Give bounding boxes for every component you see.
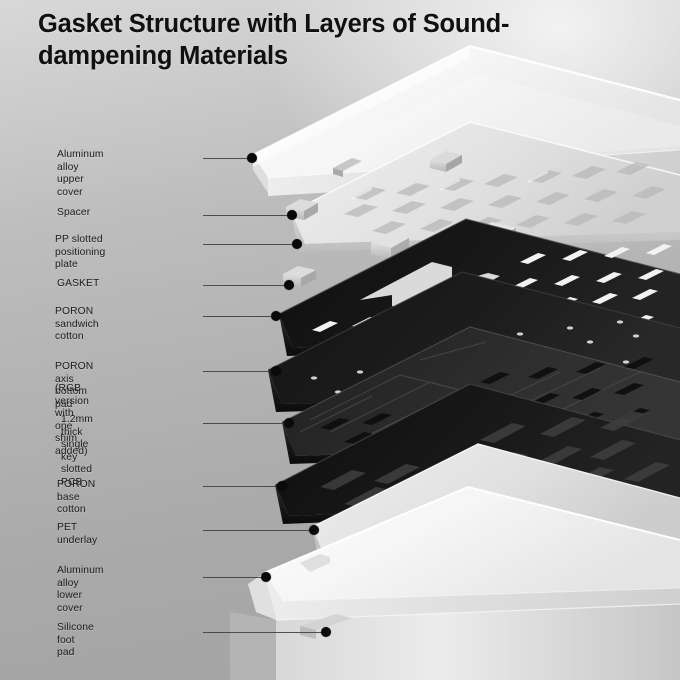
callout-label-gasket: GASKET xyxy=(57,278,99,291)
leader-line-poron-sandwich-cotton xyxy=(203,316,275,317)
leader-line-poron-base-cotton xyxy=(203,486,281,487)
callout-label-aluminum-alloy-lower-cover: Aluminum alloy lower cover xyxy=(57,565,104,615)
leader-dot-pp-slotted-positioning-plate xyxy=(292,239,302,249)
leader-line-gasket xyxy=(203,285,288,286)
leader-line-spacer xyxy=(203,215,291,216)
leader-line-pet-underlay xyxy=(203,530,313,531)
leader-dot-poron-axis-bottom-pad xyxy=(271,366,281,376)
callout-label-pp-slotted-positioning-plate: PP slotted positioning plate xyxy=(55,234,105,272)
page-title: Gasket Structure with Layers of Sound-da… xyxy=(38,8,638,72)
leader-dot-silicone-foot-pad xyxy=(321,627,331,637)
leader-dot-aluminum-alloy-upper-cover xyxy=(247,153,257,163)
exploded-diagram-page: Gasket Structure with Layers of Sound-da… xyxy=(0,0,680,680)
leader-line-pp-slotted-positioning-plate xyxy=(203,244,296,245)
leader-line-single-key-slotted-pcb xyxy=(203,423,288,424)
leader-dot-single-key-slotted-pcb xyxy=(284,418,294,428)
callout-label-spacer: Spacer xyxy=(57,207,90,220)
callout-label-poron-base-cotton: PORON base cotton xyxy=(57,479,95,517)
callout-label-single-key-slotted-pcb: 1.2mm thick single key slotted PCB xyxy=(61,414,93,489)
leader-line-poron-axis-bottom-pad xyxy=(203,371,275,372)
leader-dot-spacer xyxy=(287,210,297,220)
leader-dot-poron-base-cotton xyxy=(277,481,287,491)
callout-label-aluminum-alloy-upper-cover: Aluminum alloy upper cover xyxy=(57,149,104,199)
leader-dot-gasket xyxy=(284,280,294,290)
leader-dot-pet-underlay xyxy=(309,525,319,535)
callout-label-poron-sandwich-cotton: PORON sandwich cotton xyxy=(55,306,99,344)
callout-label-pet-underlay: PET underlay xyxy=(57,522,97,547)
callout-label-silicone-foot-pad: Silicone foot pad xyxy=(57,622,94,660)
leader-dot-poron-sandwich-cotton xyxy=(271,311,281,321)
leader-line-aluminum-alloy-upper-cover xyxy=(203,158,251,159)
leader-line-silicone-foot-pad xyxy=(203,632,325,633)
leader-dot-aluminum-alloy-lower-cover xyxy=(261,572,271,582)
leader-line-aluminum-alloy-lower-cover xyxy=(203,577,265,578)
